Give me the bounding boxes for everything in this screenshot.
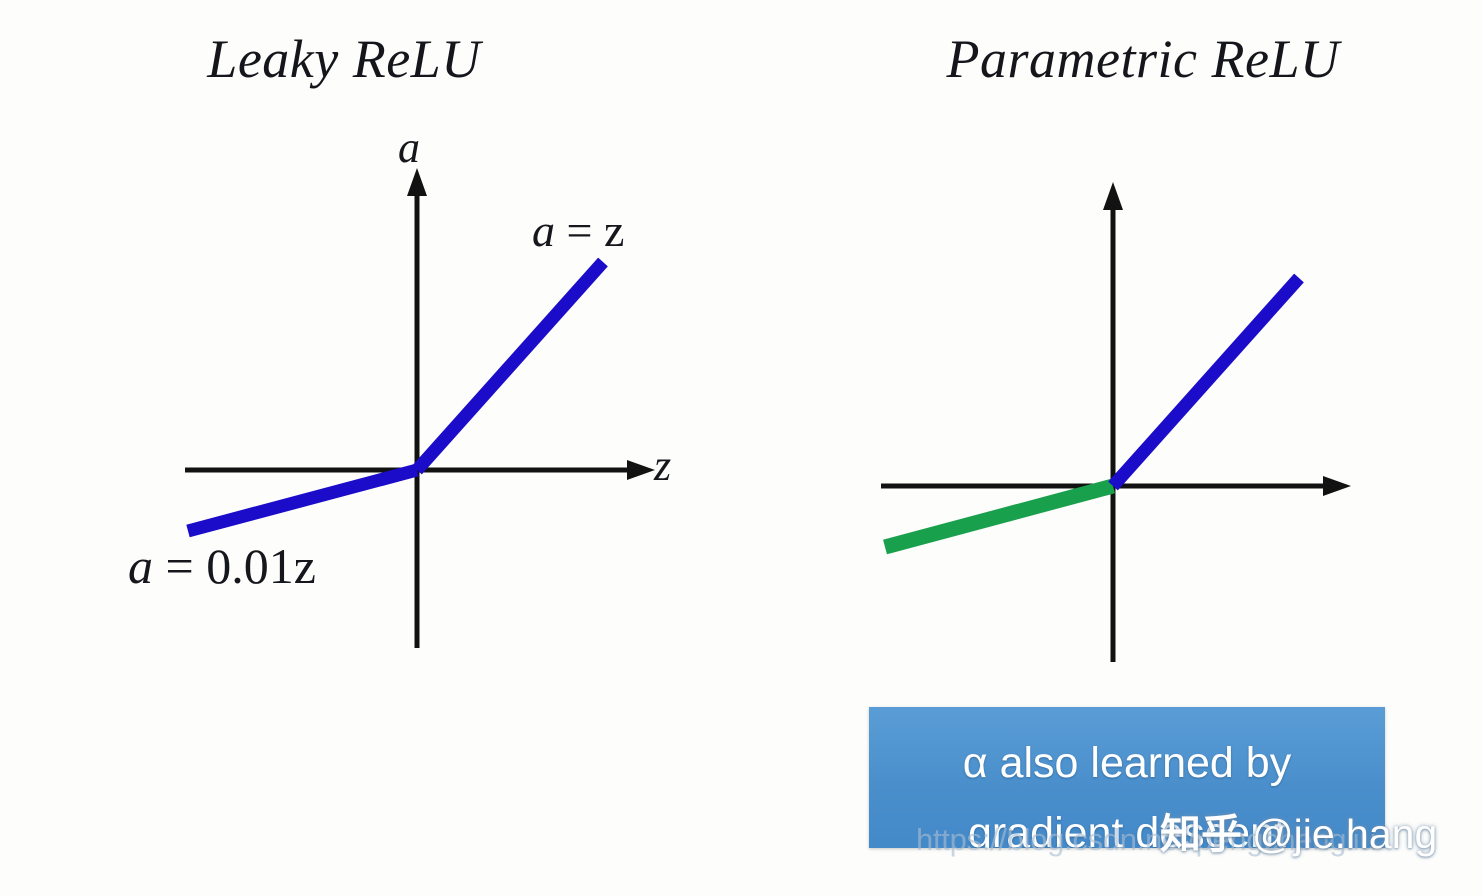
leaky-relu-y-axis-label: a [398, 126, 420, 170]
zhihu-handle: @jie.hang [1252, 811, 1437, 857]
zhihu-logo-icon: 知乎 [1160, 810, 1242, 858]
zhihu-watermark: 知乎@jie.hang [1160, 800, 1437, 860]
x-axis-arrow-icon [1323, 476, 1351, 496]
leaky-relu-negative-branch [188, 470, 417, 531]
leaky-relu-x-axis-label: z [654, 444, 671, 488]
leaky-relu-plot [0, 0, 760, 896]
parametric-relu-positive-branch [1113, 278, 1299, 486]
y-axis-arrow-icon [1103, 182, 1123, 210]
leaky-relu-positive-branch [417, 262, 603, 470]
leaky-relu-negative-branch-label: a = 0.01z [128, 541, 316, 591]
leaky-relu-positive-branch-label: a = z [532, 208, 624, 254]
x-axis-arrow-icon [627, 460, 655, 480]
y-axis-arrow-icon [407, 168, 427, 196]
leaky-relu-panel: Leaky ReLU a z a = z a = 0.01z [0, 0, 760, 896]
parametric-relu-negative-branch [885, 486, 1113, 547]
